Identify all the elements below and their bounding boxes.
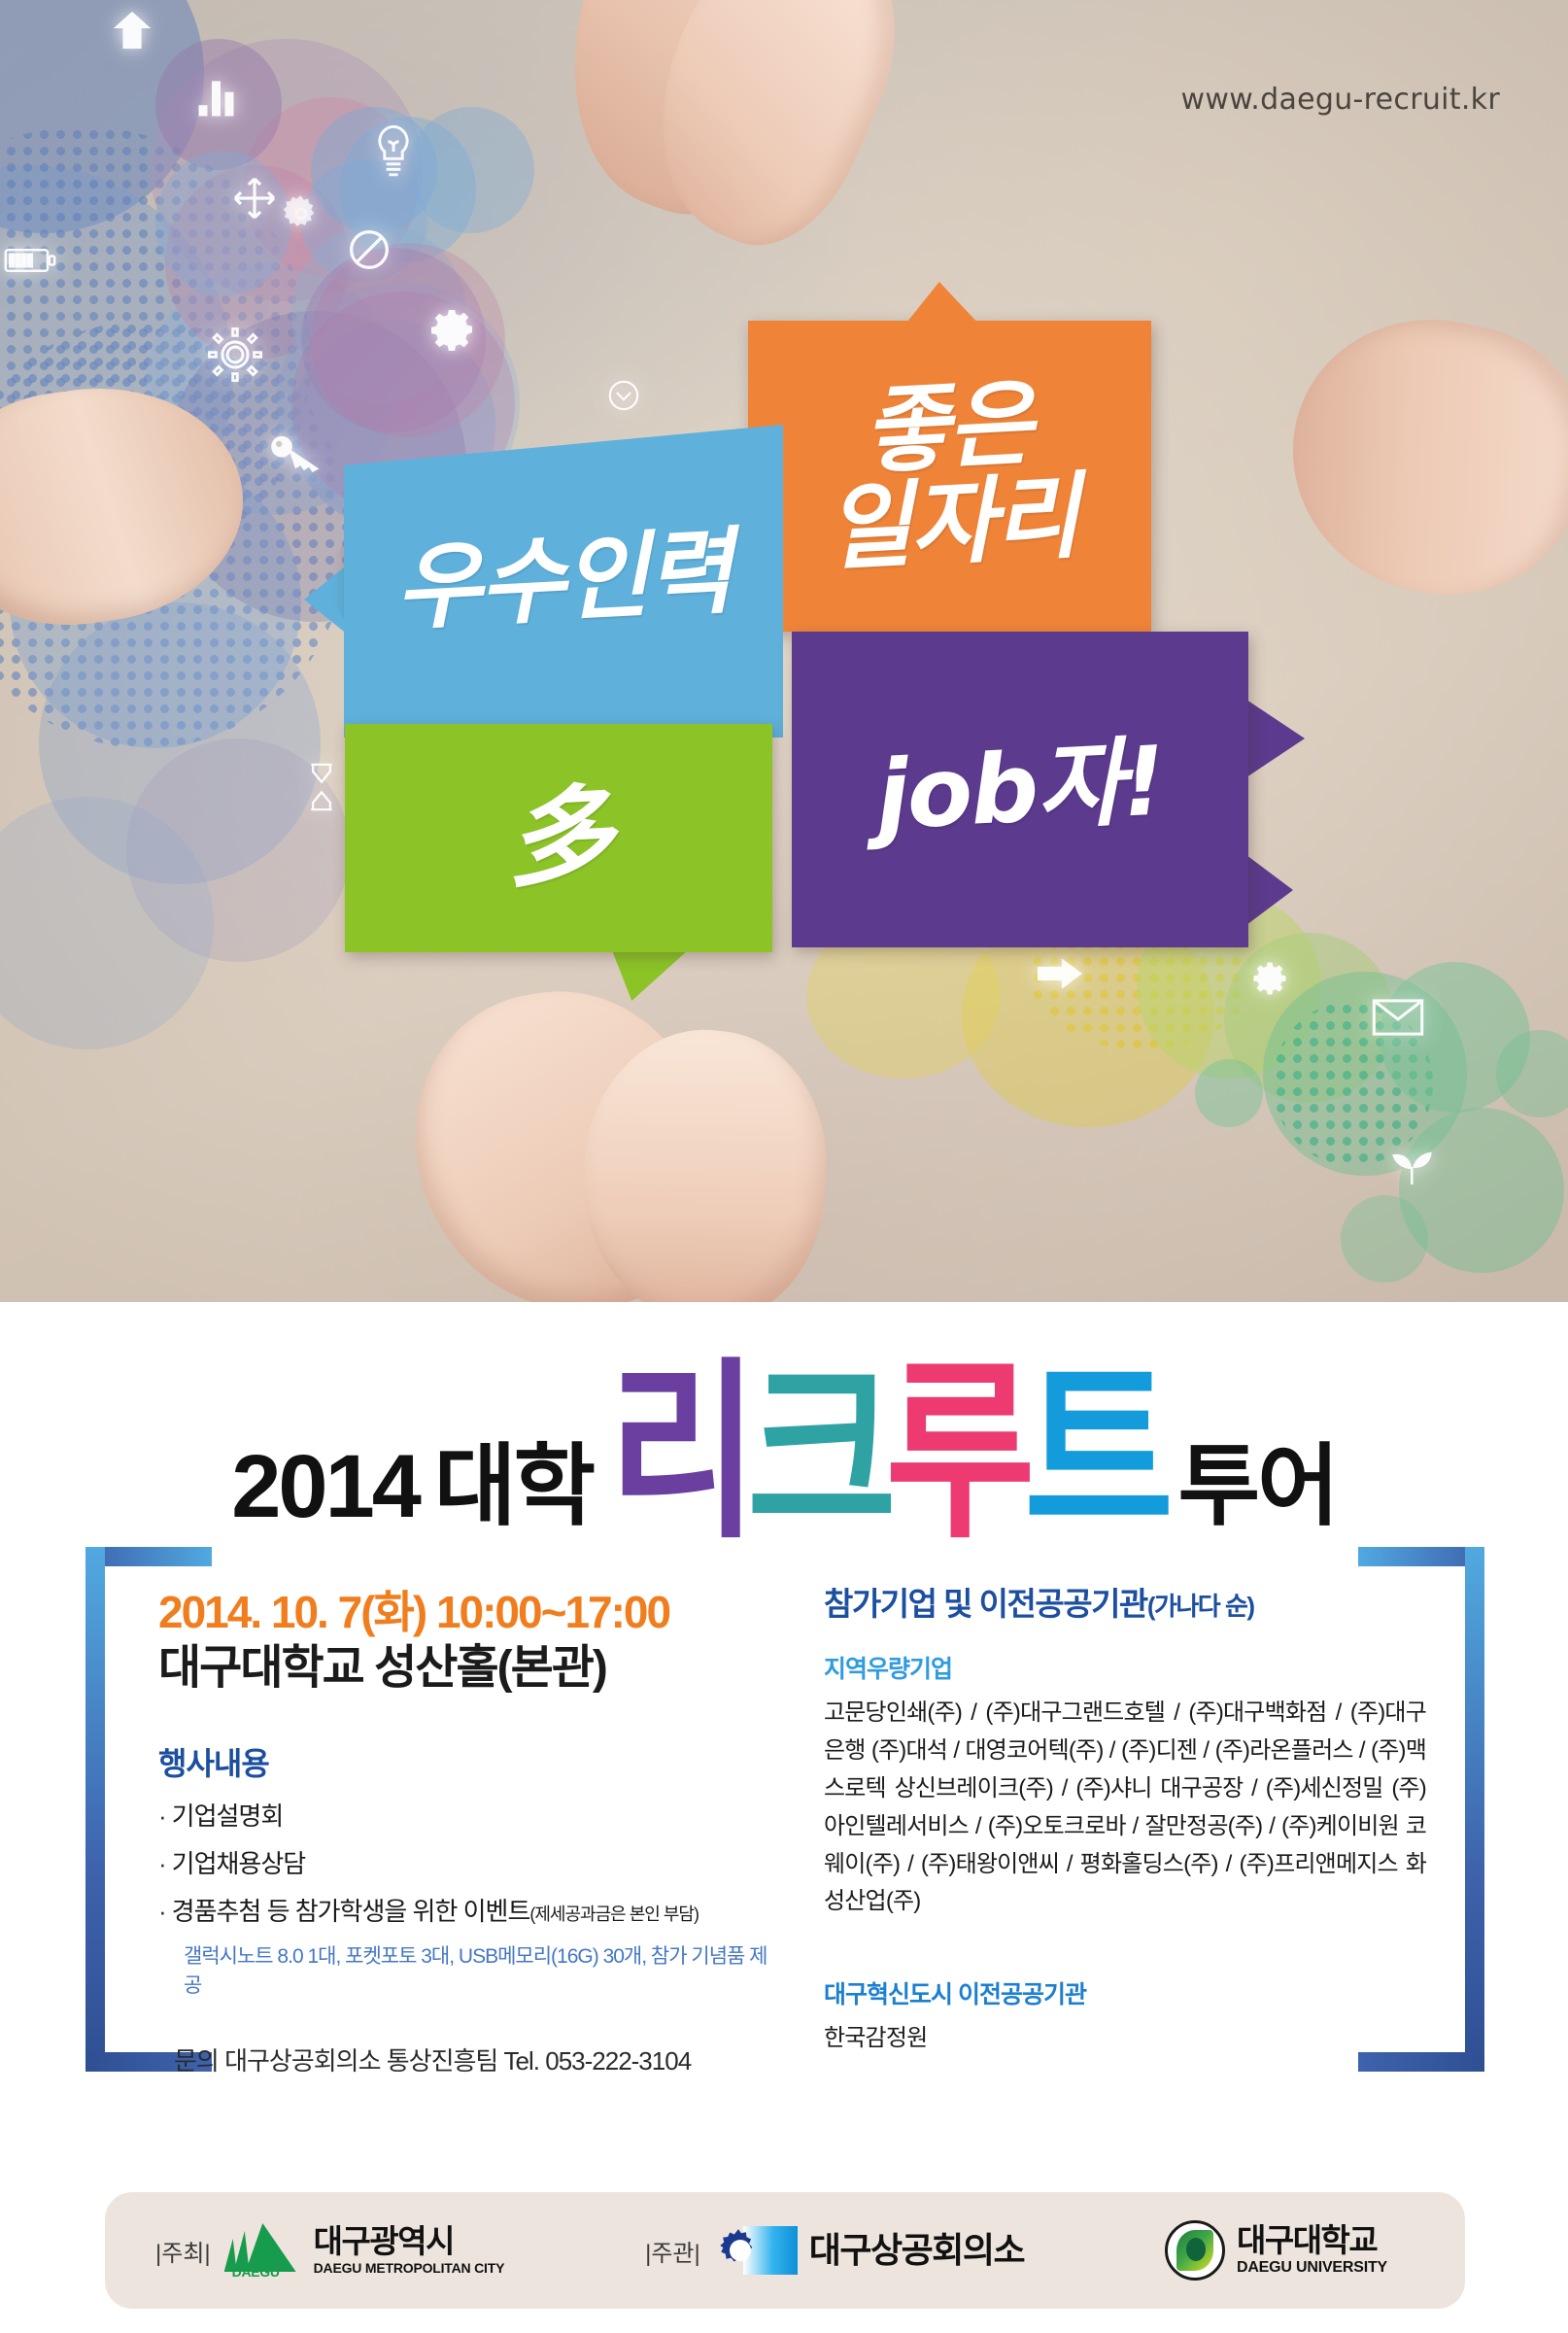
event-date: 2014. 10. 7(화) 10:00~17:00 (158, 1586, 780, 1638)
event-section-title: 행사내용 (158, 1739, 780, 1784)
organizer-name-kr: 대구상공회의소 (809, 2233, 1024, 2268)
bracket-bottom-right (1358, 2052, 1484, 2072)
university-name-kr: 대구대학교 (1237, 2224, 1387, 2256)
university-name-en: DAEGU UNIVERSITY (1237, 2259, 1387, 2277)
bullet-dot: · (158, 1801, 166, 1831)
bubble-green: 多 (345, 724, 772, 952)
companies-column: 참가기업 및 이전공공기관(가나다 순) 지역우량기업 고문당인쇄(주) / (… (824, 1578, 1426, 2052)
event-item-text: 기업설명회 (172, 1801, 284, 1831)
bubble-purple-tail (1246, 700, 1305, 777)
recruit-char-3: 루 (885, 1370, 1024, 1535)
bracket-right-lower (1465, 1868, 1484, 2072)
hand-right-fingers (1267, 293, 1568, 620)
recruit-char-1: 리 (608, 1370, 747, 1535)
site-url[interactable]: www.daegu-recruit.kr (1181, 83, 1500, 117)
bubble-blue: 우수인력 (344, 425, 783, 738)
event-contact: 문의 대구상공회의소 통상진흥팀 Tel. 053-222-3104 (174, 2041, 780, 2077)
daegu-university-seal-icon (1165, 2220, 1225, 2281)
daegu-city-logo-icon: DAEGU (224, 2223, 296, 2278)
bokeh-circle (1496, 1030, 1568, 1117)
companies-local-heading: 지역우량기업 (824, 1650, 1426, 1685)
headline-year: 2014 (231, 1442, 419, 1535)
organizer-block: |주관| 대구상공회의소 (645, 2222, 1024, 2279)
companies-title: 참가기업 및 이전공공기관(가나다 순) (824, 1578, 1426, 1625)
cci-logo-icon (714, 2222, 798, 2279)
companies-public-list: 한국감정원 (824, 2018, 1426, 2052)
event-item-note: (제세공과금은 본인 부담) (529, 1904, 699, 1924)
event-details-column: 2014. 10. 7(화) 10:00~17:00 대구대학교 성산홀(본관)… (158, 1586, 780, 2077)
bokeh-circle (1341, 1195, 1428, 1283)
bokeh-circle (408, 107, 534, 233)
bubble-orange-tail (903, 282, 981, 326)
chevron-down-icon (607, 379, 640, 417)
companies-public-heading: 대구혁신도시 이전공공기관 (824, 1975, 1426, 2010)
companies-title-main: 참가기업 및 이전공공기관 (824, 1586, 1147, 1622)
organizer-tag: |주관| (645, 2234, 700, 2268)
bubble-green-tail (612, 950, 688, 1001)
daegu-mark-text: DAEGU (232, 2264, 280, 2280)
poster-root: 좋은일자리 우수인력 多 job자! www.daegu-recruit.kr … (0, 0, 1568, 2333)
bubble-blue-text: 우수인력 (393, 525, 733, 637)
bullet-dot: · (158, 1897, 166, 1926)
event-item: ·기업설명회 (158, 1801, 780, 1832)
headline-recruit: 리 크 루 트 (608, 1395, 1162, 1535)
event-item: ·기업채용상담 (158, 1849, 780, 1879)
event-item-text: 기업채용상담 (172, 1849, 306, 1878)
recruit-char-4: 트 (1024, 1370, 1163, 1535)
bullet-dot: · (158, 1849, 166, 1878)
event-item-text: 경품추첨 등 참가학생을 위한 이벤트 (172, 1897, 530, 1926)
host-tag: |주최| (155, 2234, 211, 2268)
bracket-left-lower (85, 1868, 105, 2072)
bokeh-circle (311, 243, 505, 437)
bracket-left-upper (85, 1547, 105, 1868)
bracket-right-upper (1465, 1547, 1484, 1868)
lower-content: 2014 대학 리 크 루 트 투어 2014. 1 (0, 1302, 1568, 2333)
footer-bar: |주최| DAEGU 대구광역시 DAEGU METROPOLITAN CITY… (105, 2192, 1465, 2309)
host-block: |주최| DAEGU 대구광역시 DAEGU METROPOLITAN CITY (155, 2223, 504, 2278)
bubble-orange: 좋은일자리 (748, 321, 1151, 632)
page-title: 2014 대학 리 크 루 트 투어 (0, 1360, 1568, 1535)
bokeh-circle (155, 151, 291, 296)
bubble-purple: job자! (792, 632, 1248, 947)
companies-title-suffix: (가나다 순) (1147, 1592, 1254, 1621)
info-panel: 2014. 10. 7(화) 10:00~17:00 대구대학교 성산홀(본관)… (85, 1547, 1484, 2091)
bubble-purple-text: job자! (874, 734, 1167, 845)
hero-photo: 좋은일자리 우수인력 多 job자! www.daegu-recruit.kr (0, 0, 1568, 1302)
university-block: 대구대학교 DAEGU UNIVERSITY (1165, 2220, 1387, 2281)
bubble-orange-text: 좋은일자리 (819, 374, 1080, 577)
host-name-kr: 대구광역시 (314, 2225, 505, 2257)
companies-local-list: 고문당인쇄(주) / (주)대구그랜드호텔 / (주)대구백화점 / (주)대구… (824, 1695, 1426, 1921)
bubble-green-text: 多 (503, 781, 614, 896)
bokeh-circle (1195, 1059, 1263, 1127)
recruit-char-2: 크 (747, 1370, 886, 1535)
event-item: ·경품추첨 등 참가학생을 위한 이벤트(제세공과금은 본인 부담) (158, 1897, 780, 1927)
headline-suffix: 투어 (1177, 1442, 1336, 1535)
headline-univ: 대학 (434, 1442, 593, 1535)
event-prizes: 갤럭시노트 8.0 1대, 포켓포토 3대, USB메모리(16G) 30개, … (184, 1940, 780, 1999)
event-venue: 대구대학교 성산홀(본관) (158, 1640, 780, 1697)
host-name-en: DAEGU METROPOLITAN CITY (314, 2260, 505, 2276)
